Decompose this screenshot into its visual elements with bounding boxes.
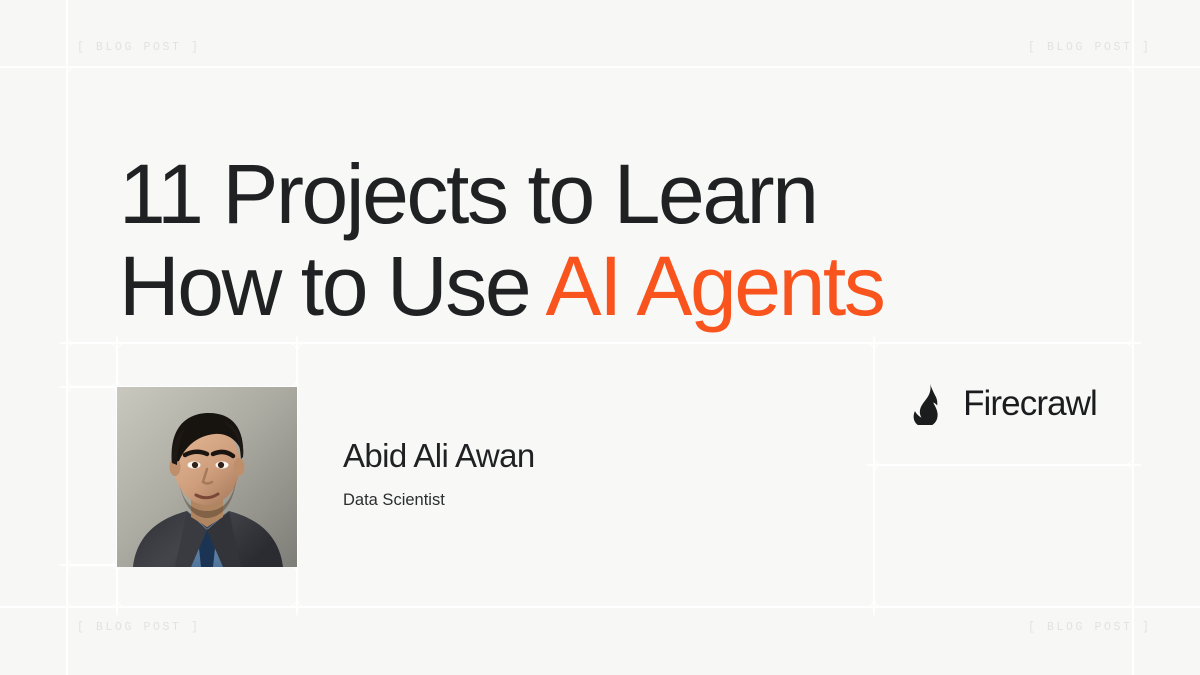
author-name: Abid Ali Awan <box>343 437 535 475</box>
grid-cell-photo-bottom <box>117 565 297 607</box>
corner-label-bottom-right: [ BLOG POST ] <box>1028 621 1152 634</box>
corner-label-top-right: [ BLOG POST ] <box>1028 41 1152 54</box>
brand-name: Firecrawl <box>963 384 1097 424</box>
corner-label-bottom-left: [ BLOG POST ] <box>77 621 201 634</box>
title-line-1: 11 Projects to Learn <box>119 147 817 241</box>
author-role: Data Scientist <box>343 491 445 510</box>
brand-logo: Firecrawl <box>874 343 1133 465</box>
flame-icon <box>910 383 946 425</box>
gridline-vertical-right <box>1132 0 1134 675</box>
gridline-horizontal-bottom <box>0 606 1200 608</box>
grid-cell-author-info <box>297 343 874 607</box>
gridline-vertical-left <box>66 0 68 675</box>
grid-cell-photo-left-gutter <box>67 387 117 565</box>
grid-cell-author-top-left <box>67 343 117 387</box>
grid-cell-brand-below <box>874 465 1133 607</box>
title-line-2-accent: AI Agents <box>545 239 883 333</box>
gridline-horizontal-top <box>0 66 1200 68</box>
title-line-2-plain: How to Use <box>119 239 545 333</box>
page-title: 11 Projects to LearnHow to Use AI Agents <box>119 148 999 332</box>
grid-cell-photo-top <box>117 343 297 387</box>
grid-cell-author-bottom-left <box>67 565 117 607</box>
blog-post-card: [ BLOG POST ] [ BLOG POST ] [ BLOG POST … <box>0 0 1200 675</box>
avatar <box>117 387 297 567</box>
corner-label-top-left: [ BLOG POST ] <box>77 41 201 54</box>
